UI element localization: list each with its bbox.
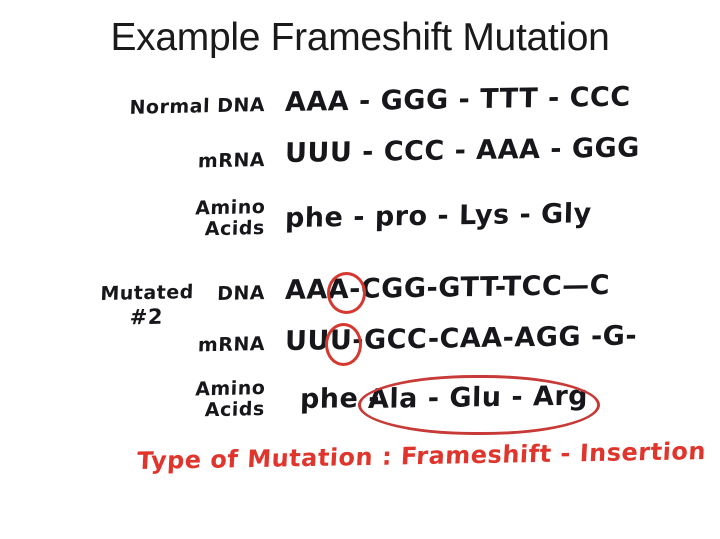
row-label-mutated-amino-acids: Amino Acids (79, 378, 265, 424)
group-label-line-2: #2 (99, 304, 193, 330)
slide-canvas: Example Frameshift Mutation Normal DNA A… (0, 0, 720, 539)
row-label-normal-dna: Normal DNA (80, 95, 266, 120)
row-label-line-2: Acids (79, 218, 265, 243)
row-label-mutated-mrna: mRNA (80, 334, 266, 359)
sequence-mutated-mrna: UUU-GCC-CAA-AGG -G- (285, 321, 638, 357)
row-label-mutated-dna: DNA (80, 283, 266, 308)
row-label-normal-mrna: mRNA (80, 150, 266, 175)
row-label-line-2: Acids (79, 399, 265, 424)
sequence-normal-amino-acids: phe - pro - Lys - Gly (285, 199, 592, 234)
row-label-normal-amino-acids: Amino Acids (79, 197, 265, 243)
sequence-mutated-dna: AAA-CGG-GTT-TCC—C (285, 271, 611, 306)
sequence-mutated-amino-acids-circled: Ala - Glu - Arg (368, 382, 589, 415)
page-title: Example Frameshift Mutation (0, 16, 720, 60)
mutation-type-caption: Type of Mutation : Frameshift - Insertio… (136, 437, 706, 475)
sequence-normal-mrna: UUU - CCC - AAA - GGG (285, 133, 640, 169)
sequence-normal-dna: AAA - GGG - TTT - CCC (285, 83, 631, 118)
